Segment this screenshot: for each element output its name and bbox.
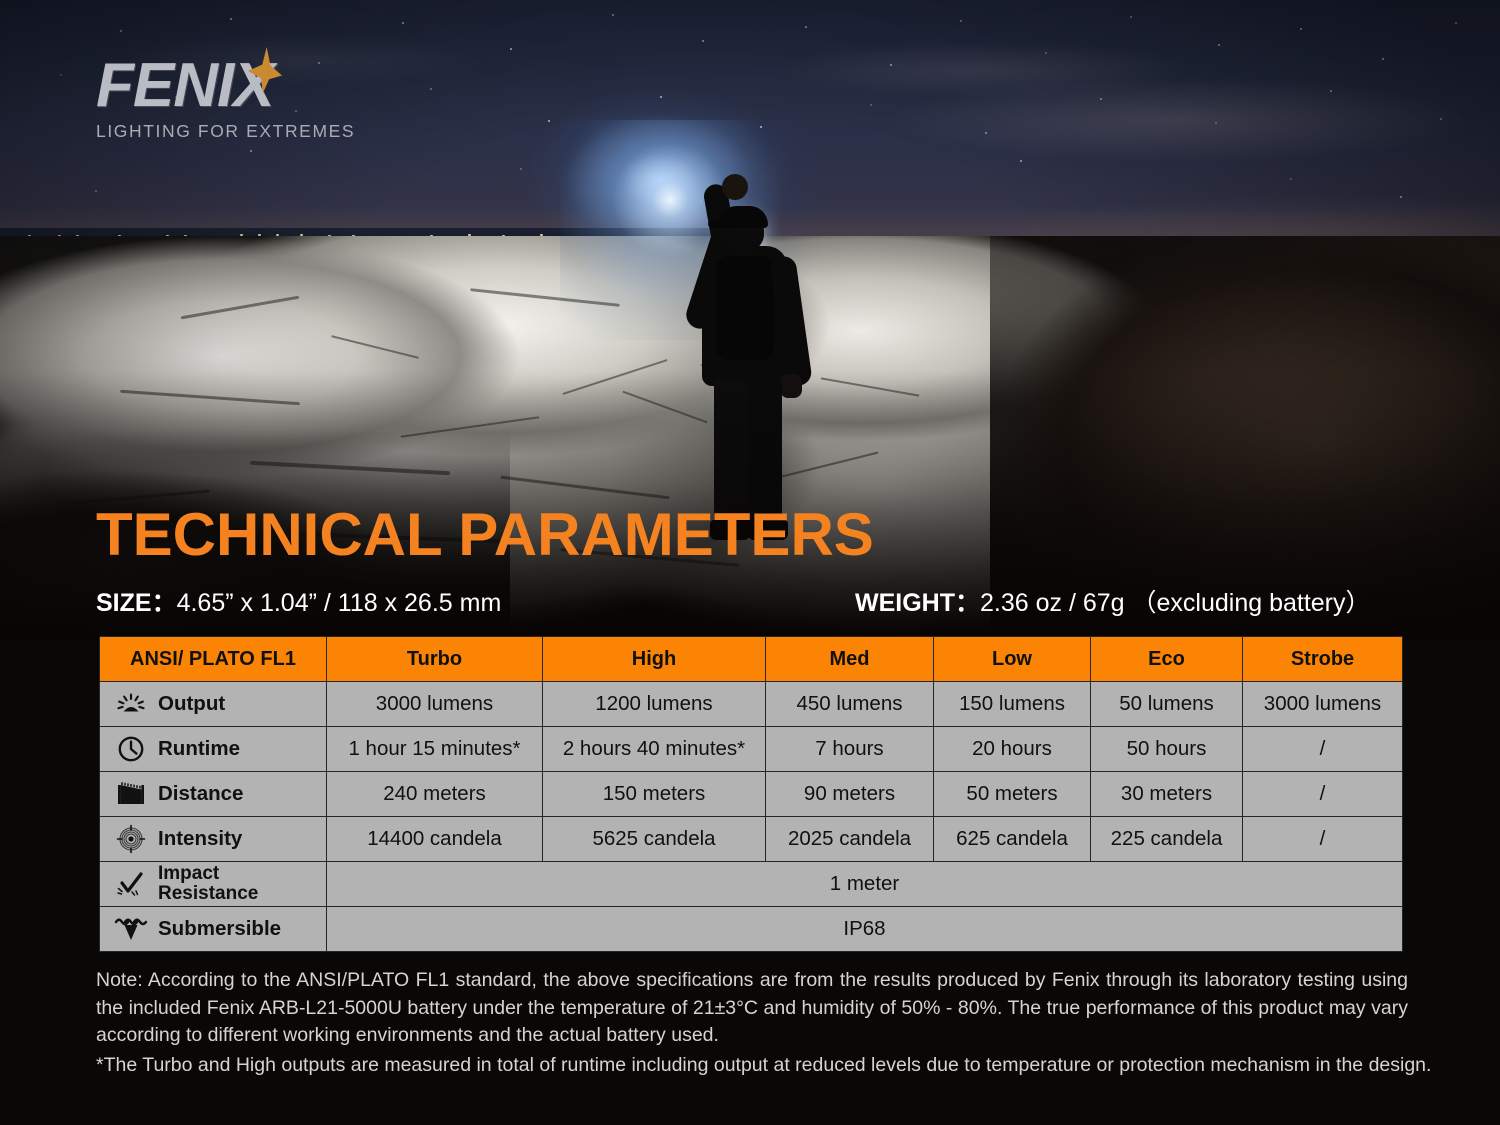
row-label: Runtime: [154, 738, 326, 760]
col-header-eco: Eco: [1091, 637, 1243, 682]
impact-resistance-icon: [108, 870, 154, 898]
weight-value: 2.36 oz / 67g （excluding battery）: [980, 589, 1371, 617]
row-label: Distance: [154, 783, 326, 805]
cell-output-turbo: 3000 lumens: [327, 682, 543, 727]
brand-tagline: LIGHTING FOR EXTREMES: [96, 121, 426, 142]
cell-intensity-strobe: /: [1243, 817, 1403, 862]
row-header-submersible: Submersible: [100, 907, 327, 952]
cell-distance-eco: 30 meters: [1091, 772, 1243, 817]
poster-root: FENIX LIGHTING FOR EXTREMES TECHNICAL PA…: [0, 0, 1500, 1125]
row-header-runtime: Runtime: [100, 727, 327, 772]
cell-distance-low: 50 meters: [934, 772, 1091, 817]
cell-output-eco: 50 lumens: [1091, 682, 1243, 727]
sunburst-icon: [108, 691, 154, 717]
notes-block: Note: According to the ANSI/PLATO FL1 st…: [96, 967, 1408, 1080]
col-header-med: Med: [766, 637, 934, 682]
size-label: SIZE：: [96, 589, 177, 617]
table-row: Impact Resistance 1 meter: [100, 862, 1403, 907]
cell-distance-med: 90 meters: [766, 772, 934, 817]
cell-intensity-eco: 225 candela: [1091, 817, 1243, 862]
row-header-distance: Distance: [100, 772, 327, 817]
row-header-impact-resistance: Impact Resistance: [100, 862, 327, 907]
col-header-low: Low: [934, 637, 1091, 682]
cell-intensity-med: 2025 candela: [766, 817, 934, 862]
row-header-intensity: Intensity: [100, 817, 327, 862]
cell-output-strobe: 3000 lumens: [1243, 682, 1403, 727]
weight-label: WEIGHT：: [855, 589, 980, 617]
cell-distance-strobe: /: [1243, 772, 1403, 817]
col-header-ansi: ANSI/ PLATO FL1: [100, 637, 327, 682]
col-header-high: High: [543, 637, 766, 682]
table-row: Submersible IP68: [100, 907, 1403, 952]
brand-name: FENIX: [96, 55, 426, 117]
row-label: Submersible: [154, 918, 326, 940]
row-label-line1: Impact: [158, 863, 219, 884]
table-header-row: ANSI/ PLATO FL1 Turbo High Med Low Eco S…: [100, 637, 1403, 682]
cell-runtime-high: 2 hours 40 minutes*: [543, 727, 766, 772]
col-header-turbo: Turbo: [327, 637, 543, 682]
cell-submersible-value: IP68: [327, 907, 1403, 952]
note-ansi-standard: Note: According to the ANSI/PLATO FL1 st…: [96, 967, 1408, 1050]
cell-runtime-turbo: 1 hour 15 minutes*: [327, 727, 543, 772]
cell-output-med: 450 lumens: [766, 682, 934, 727]
cell-output-low: 150 lumens: [934, 682, 1091, 727]
fenix-logo: FENIX LIGHTING FOR EXTREMES: [96, 55, 426, 155]
table-row: Runtime 1 hour 15 minutes* 2 hours 40 mi…: [100, 727, 1403, 772]
cell-runtime-eco: 50 hours: [1091, 727, 1243, 772]
size-line: SIZE：4.65” x 1.04” / 118 x 26.5 mm: [96, 583, 501, 619]
cell-distance-turbo: 240 meters: [327, 772, 543, 817]
water-drop-icon: [108, 916, 154, 942]
note-turbo-high-runtime: *The Turbo and High outputs are measured…: [96, 1052, 1408, 1080]
cell-runtime-med: 7 hours: [766, 727, 934, 772]
cell-intensity-low: 625 candela: [934, 817, 1091, 862]
table-row: Distance 240 meters 150 meters 90 meters…: [100, 772, 1403, 817]
intensity-target-icon: [108, 824, 154, 854]
specifications-table: ANSI/ PLATO FL1 Turbo High Med Low Eco S…: [99, 636, 1403, 952]
cell-intensity-high: 5625 candela: [543, 817, 766, 862]
row-label: Impact Resistance: [154, 864, 326, 904]
weight-line: WEIGHT：2.36 oz / 67g （excluding battery）: [855, 583, 1371, 619]
cell-runtime-low: 20 hours: [934, 727, 1091, 772]
clock-icon: [108, 735, 154, 763]
table-row: Output 3000 lumens 1200 lumens 450 lumen…: [100, 682, 1403, 727]
row-header-output: Output: [100, 682, 327, 727]
col-header-strobe: Strobe: [1243, 637, 1403, 682]
row-label: Output: [154, 693, 326, 715]
size-value: 4.65” x 1.04” / 118 x 26.5 mm: [177, 589, 502, 617]
table-row: Intensity 14400 candela 5625 candela 202…: [100, 817, 1403, 862]
cell-runtime-strobe: /: [1243, 727, 1403, 772]
cell-intensity-turbo: 14400 candela: [327, 817, 543, 862]
cell-output-high: 1200 lumens: [543, 682, 766, 727]
cell-impact-resistance-value: 1 meter: [327, 862, 1403, 907]
beam-distance-icon: [108, 781, 154, 807]
cell-distance-high: 150 meters: [543, 772, 766, 817]
page-title: TECHNICAL PARAMETERS: [96, 505, 874, 565]
row-label-line2: Resistance: [158, 883, 258, 904]
row-label: Intensity: [154, 828, 326, 850]
